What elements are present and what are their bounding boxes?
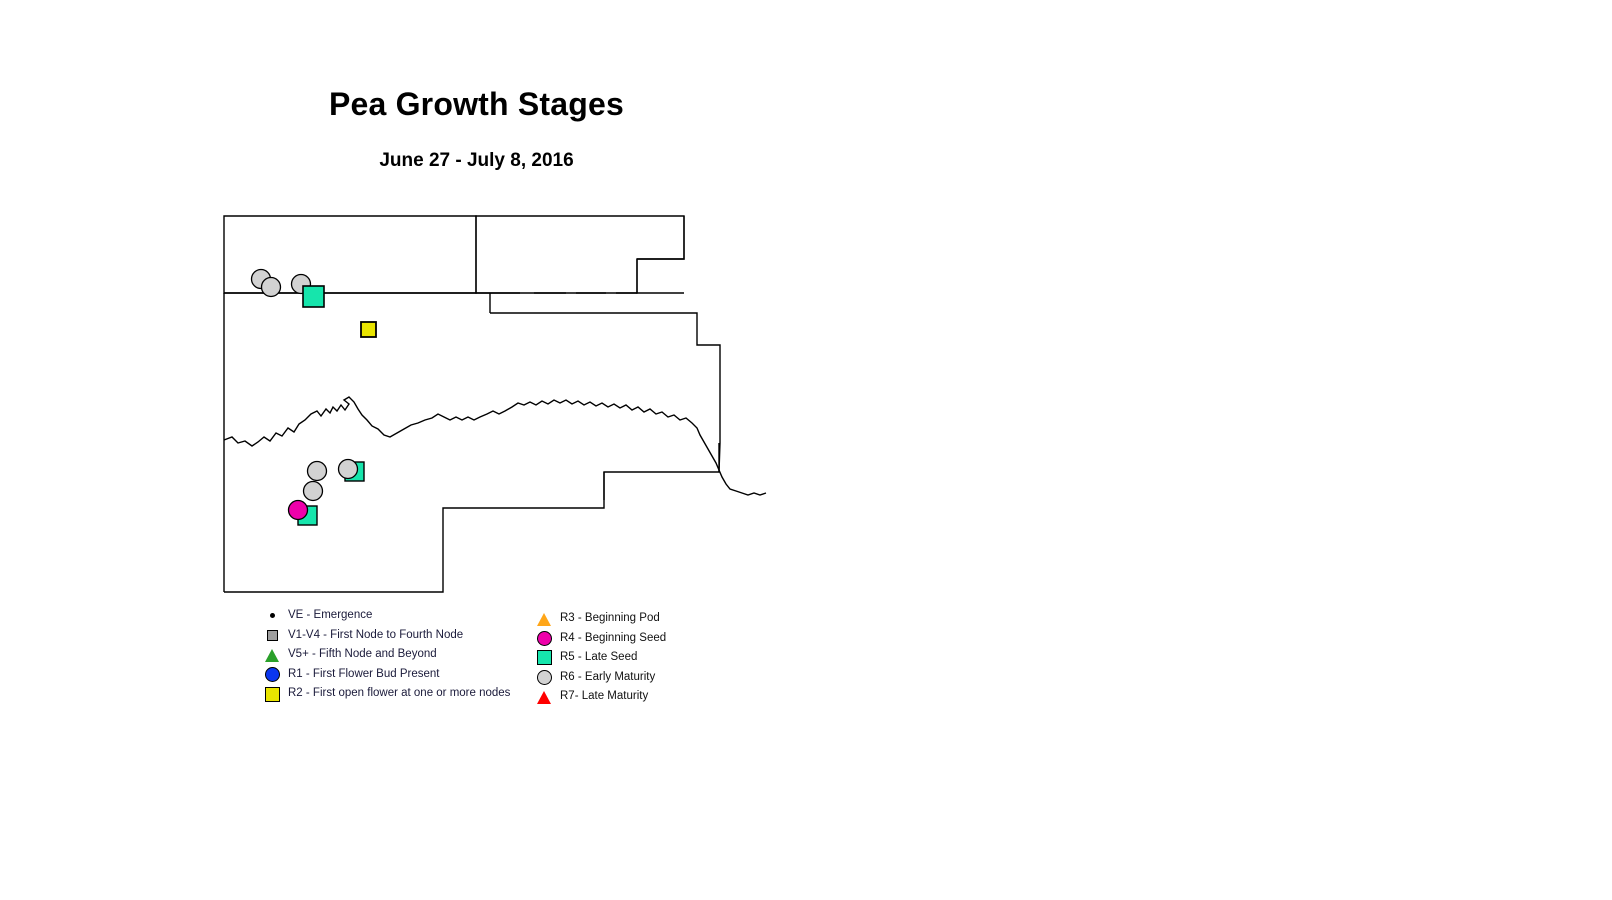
square-marker-icon (260, 626, 284, 645)
dot-marker-icon (260, 606, 284, 625)
marker-r6[interactable] (339, 460, 358, 479)
legend-column-left: VE - Emergence V1-V4 - First Node to Fou… (260, 606, 528, 704)
county-boundaries (224, 216, 766, 592)
legend-item-label: V5+ - Fifth Node and Beyond (288, 649, 437, 661)
legend: VE - Emergence V1-V4 - First Node to Fou… (260, 606, 690, 716)
observation-markers (252, 270, 377, 526)
river-boundary (224, 397, 766, 495)
legend-item-label: V1-V4 - First Node to Fourth Node (288, 630, 463, 642)
legend-column-right: R3 - Beginning Pod R4 - Beginning Seed R… (532, 609, 692, 707)
map-figure: Pea Growth Stages June 27 - July 8, 2016 (0, 0, 1612, 900)
legend-item-r2[interactable]: R2 - First open flower at one or more no… (260, 684, 528, 704)
county-sw-bottom (224, 472, 604, 592)
legend-item-r3[interactable]: R3 - Beginning Pod (532, 609, 692, 629)
legend-item-label: R1 - First Flower Bud Present (288, 669, 439, 681)
square-marker-icon (260, 685, 284, 704)
legend-item-label: R7- Late Maturity (560, 691, 648, 703)
legend-item-label: R5 - Late Seed (560, 652, 637, 664)
legend-item-label: R6 - Early Maturity (560, 672, 655, 684)
legend-item-r4[interactable]: R4 - Beginning Seed (532, 629, 692, 649)
circle-marker-icon (532, 629, 556, 648)
legend-item-label: R3 - Beginning Pod (560, 613, 660, 625)
county-central-east (490, 313, 720, 500)
legend-item-label: R2 - First open flower at one or more no… (288, 688, 510, 700)
circle-marker-icon (532, 668, 556, 687)
marker-r2[interactable] (361, 322, 376, 337)
county-ne-top (637, 216, 684, 259)
circle-marker-icon (260, 665, 284, 684)
triangle-marker-icon (532, 609, 556, 628)
legend-item-v1v4[interactable]: V1-V4 - First Node to Fourth Node (260, 626, 528, 646)
legend-item-v5[interactable]: V5+ - Fifth Node and Beyond (260, 645, 528, 665)
marker-r4[interactable] (289, 501, 308, 520)
legend-item-r7[interactable]: R7- Late Maturity (532, 687, 692, 707)
county-nc (476, 216, 684, 293)
marker-r5[interactable] (303, 286, 324, 307)
legend-item-label: VE - Emergence (288, 610, 372, 622)
triangle-marker-icon (260, 645, 284, 664)
legend-item-ve[interactable]: VE - Emergence (260, 606, 528, 626)
legend-item-label: R4 - Beginning Seed (560, 633, 666, 645)
county-ne-step (637, 259, 684, 293)
square-marker-icon (532, 648, 556, 667)
legend-item-r6[interactable]: R6 - Early Maturity (532, 668, 692, 688)
legend-item-r1[interactable]: R1 - First Flower Bud Present (260, 665, 528, 685)
marker-r6[interactable] (304, 482, 323, 501)
map-canvas (0, 0, 1612, 900)
marker-r6[interactable] (308, 462, 327, 481)
marker-r6[interactable] (262, 278, 281, 297)
county-map (0, 0, 1612, 900)
legend-item-r5[interactable]: R5 - Late Seed (532, 648, 692, 668)
triangle-marker-icon (532, 688, 556, 707)
